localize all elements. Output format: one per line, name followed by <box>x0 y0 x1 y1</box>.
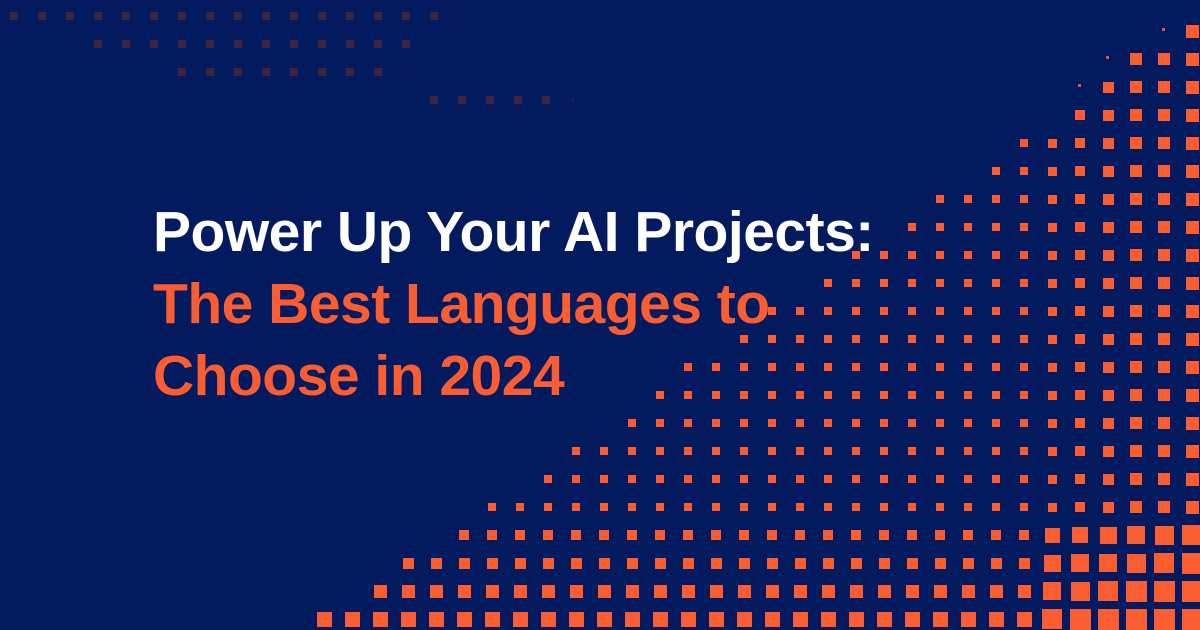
halftone-dot <box>1130 53 1142 65</box>
halftone-dot <box>262 12 270 20</box>
halftone-dot <box>1158 81 1170 93</box>
halftone-dot <box>1071 582 1090 601</box>
halftone-dot <box>1042 609 1062 629</box>
halftone-dot <box>656 447 664 455</box>
halftone-dot <box>1126 609 1147 630</box>
halftone-dot <box>992 279 1000 287</box>
halftone-dot <box>1186 501 1199 514</box>
halftone-dot <box>908 475 916 483</box>
halftone-dot <box>459 530 469 540</box>
halftone-dot <box>544 475 552 483</box>
halftone-dot <box>599 530 609 540</box>
halftone-dot <box>852 447 860 455</box>
halftone-dot <box>992 419 1000 427</box>
halftone-dot <box>1075 362 1085 372</box>
halftone-dot <box>684 475 692 483</box>
halftone-dot <box>880 503 888 511</box>
halftone-dot <box>206 40 214 48</box>
halftone-dot <box>824 503 832 511</box>
halftone-dot <box>992 195 1000 203</box>
halftone-dot <box>374 68 382 76</box>
halftone-dot <box>936 195 944 203</box>
halftone-dot <box>908 307 916 315</box>
halftone-dot <box>851 558 862 569</box>
halftone-dot <box>628 447 636 455</box>
halftone-dot <box>880 475 888 483</box>
halftone-dot <box>1154 581 1175 602</box>
halftone-dot <box>1103 306 1114 317</box>
halftone-dot <box>1075 250 1085 260</box>
halftone-dot <box>1103 166 1114 177</box>
halftone-dot <box>1048 279 1057 288</box>
halftone-dot <box>936 279 944 287</box>
halftone-dot <box>290 40 298 48</box>
halftone-dot <box>766 585 779 598</box>
halftone-dot <box>1044 555 1061 572</box>
halftone-dot <box>656 475 664 483</box>
halftone-dot <box>597 612 612 627</box>
halftone-dot <box>1130 137 1142 149</box>
halftone-dot <box>1130 165 1142 177</box>
halftone-dot <box>964 223 972 231</box>
halftone-dot <box>880 419 888 427</box>
halftone-dot <box>1071 554 1089 572</box>
halftone-dot <box>628 503 636 511</box>
halftone-dot <box>907 530 917 540</box>
halftone-dot <box>935 558 946 569</box>
halftone-dot <box>1048 363 1057 372</box>
halftone-dot <box>964 475 972 483</box>
halftone-dot <box>1019 558 1030 569</box>
halftone-dot <box>1103 390 1114 401</box>
halftone-dot <box>1158 165 1170 177</box>
halftone-dot <box>1048 195 1057 204</box>
halftone-dot <box>1126 581 1147 602</box>
halftone-dot <box>908 363 916 371</box>
halftone-dot <box>374 585 387 598</box>
halftone-dot <box>1075 222 1085 232</box>
halftone-dot <box>542 96 550 104</box>
halftone-dot <box>1098 581 1118 601</box>
halftone-dot <box>1158 333 1170 345</box>
halftone-dot <box>908 503 916 511</box>
halftone-dot <box>1127 526 1145 544</box>
halftone-dot <box>150 12 158 20</box>
halftone-dot <box>1048 503 1057 512</box>
halftone-dot <box>712 475 720 483</box>
halftone-dot <box>402 585 415 598</box>
halftone-dot <box>852 503 860 511</box>
halftone-dot <box>487 558 498 569</box>
halftone-dot <box>1098 609 1119 630</box>
halftone-dot <box>570 585 583 598</box>
halftone-dot <box>1075 194 1085 204</box>
halftone-dot <box>1158 277 1170 289</box>
halftone-dot <box>878 585 891 598</box>
halftone-dot <box>1075 138 1085 148</box>
halftone-dot <box>936 447 944 455</box>
halftone-dot <box>600 503 608 511</box>
halftone-dot <box>1106 56 1109 59</box>
halftone-dot <box>1130 221 1142 233</box>
halftone-dot <box>429 612 444 627</box>
halftone-dot <box>571 530 581 540</box>
halftone-dot <box>880 363 888 371</box>
halftone-dot <box>936 475 944 483</box>
halftone-dot <box>908 279 916 287</box>
halftone-dot <box>572 503 580 511</box>
halftone-dot <box>178 12 186 20</box>
halftone-dot <box>1130 109 1142 121</box>
halftone-dot <box>1103 418 1114 429</box>
halftone-dot <box>737 612 752 627</box>
halftone-dot <box>1075 306 1085 316</box>
halftone-dot <box>374 12 382 20</box>
halftone-dot <box>964 391 972 399</box>
halftone-dot <box>796 419 804 427</box>
halftone-dot <box>1020 139 1028 147</box>
halftone-dot <box>1186 389 1199 402</box>
halftone-dot <box>122 12 130 20</box>
halftone-dot <box>514 96 522 104</box>
halftone-dot <box>712 447 720 455</box>
halftone-dot <box>907 558 918 569</box>
halftone-dot <box>486 96 494 104</box>
halftone-dot <box>1020 195 1028 203</box>
halftone-dot <box>94 40 102 48</box>
halftone-dot <box>515 530 525 540</box>
halftone-dot <box>1020 167 1028 175</box>
halftone-dot <box>10 12 18 20</box>
halftone-dot <box>572 475 580 483</box>
halftone-dot <box>935 530 945 540</box>
halftone-dot <box>600 447 608 455</box>
halftone-dot <box>346 12 354 20</box>
halftone-dot <box>1103 502 1114 513</box>
halftone-dot <box>1103 138 1114 149</box>
halftone-dot <box>767 530 777 540</box>
halftone-dot <box>1130 277 1142 289</box>
halftone-dot <box>1075 502 1085 512</box>
halftone-dot <box>460 15 462 17</box>
halftone-dot <box>544 503 552 511</box>
halftone-dot <box>906 585 919 598</box>
halftone-dot <box>1130 445 1142 457</box>
halftone-dot <box>1186 81 1199 94</box>
halftone-dot <box>654 585 667 598</box>
halftone-dot <box>1048 419 1057 428</box>
halftone-dot <box>739 530 749 540</box>
halftone-dot <box>513 612 528 627</box>
halftone-dot <box>1103 334 1114 345</box>
halftone-dot <box>1186 417 1199 430</box>
halftone-dot <box>796 475 804 483</box>
halftone-dot <box>768 447 776 455</box>
halftone-dot <box>1075 278 1085 288</box>
halftone-dot <box>710 585 723 598</box>
halftone-dot <box>1186 25 1199 38</box>
social-banner-card: Power Up Your AI Projects: The Best Lang… <box>0 0 1200 630</box>
halftone-dot <box>1158 389 1170 401</box>
halftone-dot <box>1130 81 1142 93</box>
halftone-dot <box>1070 609 1091 630</box>
halftone-dot <box>880 279 888 287</box>
halftone-dot <box>318 68 326 76</box>
halftone-dot <box>684 447 692 455</box>
halftone-dot <box>122 40 130 48</box>
halftone-dot <box>1100 527 1117 544</box>
halftone-dot <box>572 447 580 455</box>
halftone-dot <box>1048 335 1057 344</box>
halftone-dot <box>712 503 720 511</box>
halftone-dot <box>1186 305 1199 318</box>
halftone-dot <box>992 503 1000 511</box>
halftone-dot <box>964 279 972 287</box>
halftone-dot <box>401 612 416 627</box>
halftone-dot <box>626 585 639 598</box>
halftone-dot <box>768 503 776 511</box>
halftone-dot <box>1020 223 1028 231</box>
halftone-dot <box>487 530 497 540</box>
halftone-dot <box>933 612 948 627</box>
halftone-dot <box>655 530 665 540</box>
halftone-dot <box>403 558 414 569</box>
halftone-dot <box>206 68 214 76</box>
halftone-dot <box>628 419 636 427</box>
halftone-dot <box>1186 277 1199 290</box>
halftone-dot <box>318 12 326 20</box>
halftone-dot <box>1020 279 1028 287</box>
halftone-dot <box>908 391 916 399</box>
halftone-dot <box>934 585 947 598</box>
halftone-dot <box>1048 139 1057 148</box>
halftone-dot <box>905 612 920 627</box>
halftone-dot <box>1130 389 1142 401</box>
halftone-dot <box>1075 110 1085 120</box>
halftone-dot <box>684 419 692 427</box>
halftone-dot <box>796 447 804 455</box>
halftone-dot <box>768 419 776 427</box>
halftone-dot <box>430 12 438 20</box>
halftone-dot <box>458 96 466 104</box>
halftone-dot <box>908 419 916 427</box>
halftone-dot <box>262 68 270 76</box>
halftone-dot <box>599 558 610 569</box>
headline-line-2: The Best Languages to <box>153 268 874 340</box>
halftone-dot <box>1048 475 1057 484</box>
halftone-dot <box>1154 553 1174 573</box>
headline-line-3: Choose in 2024 <box>153 340 874 412</box>
halftone-dot <box>1043 582 1061 600</box>
halftone-dot <box>1158 221 1170 233</box>
halftone-dot <box>627 530 637 540</box>
halftone-dot <box>1186 333 1199 346</box>
halftone-dot <box>1020 503 1028 511</box>
halftone-dot <box>1186 109 1199 122</box>
halftone-dot <box>740 475 748 483</box>
halftone-dot <box>656 419 664 427</box>
halftone-dot <box>1130 361 1142 373</box>
halftone-dot <box>936 391 944 399</box>
halftone-dot <box>822 585 835 598</box>
halftone-dot <box>1186 249 1199 262</box>
halftone-dot <box>431 558 442 569</box>
halftone-dot <box>572 99 574 101</box>
halftone-dot <box>990 585 1003 598</box>
halftone-dot <box>515 558 526 569</box>
headline: Power Up Your AI Projects: The Best Lang… <box>153 196 874 412</box>
halftone-dot <box>795 530 805 540</box>
halftone-dot <box>964 419 972 427</box>
halftone-dot <box>1158 53 1170 65</box>
halftone-dot <box>936 363 944 371</box>
halftone-dot <box>992 251 1000 259</box>
halftone-dot <box>964 363 972 371</box>
halftone-dot <box>682 585 695 598</box>
halftone-dot <box>486 585 499 598</box>
halftone-dot <box>1162 28 1165 31</box>
halftone-dot <box>516 503 524 511</box>
halftone-dot <box>1103 250 1114 261</box>
halftone-dot <box>1186 137 1199 150</box>
halftone-dot <box>1186 221 1199 234</box>
halftone-dot <box>234 68 242 76</box>
halftone-dot <box>318 40 326 48</box>
halftone-dot <box>1158 445 1170 457</box>
halftone-dot <box>964 503 972 511</box>
halftone-dot <box>880 391 888 399</box>
halftone-dot <box>571 558 582 569</box>
halftone-dot <box>1103 194 1114 205</box>
halftone-dot <box>992 475 1000 483</box>
halftone-dot <box>290 68 298 76</box>
halftone-dot <box>961 612 976 627</box>
halftone-dot <box>796 503 804 511</box>
halftone-dot <box>656 503 664 511</box>
halftone-dot <box>767 558 778 569</box>
halftone-dot <box>711 558 722 569</box>
halftone-dot <box>877 612 892 627</box>
halftone-dot <box>879 558 890 569</box>
halftone-dot <box>992 447 1000 455</box>
halftone-dot <box>290 12 298 20</box>
halftone-dot <box>66 12 74 20</box>
halftone-dot <box>1048 307 1057 316</box>
halftone-dot <box>1186 445 1199 458</box>
halftone-dot <box>936 335 944 343</box>
halftone-dot <box>681 612 696 627</box>
halftone-dot <box>1186 165 1199 178</box>
halftone-dot <box>851 530 861 540</box>
halftone-dot <box>1103 110 1114 121</box>
halftone-dot <box>794 585 807 598</box>
halftone-dot <box>1019 530 1029 540</box>
halftone-dot <box>346 68 354 76</box>
halftone-dot <box>850 585 863 598</box>
halftone-dot <box>600 475 608 483</box>
halftone-dot <box>824 419 832 427</box>
halftone-dot <box>1048 251 1057 260</box>
halftone-dot <box>234 40 242 48</box>
halftone-dot <box>488 503 496 511</box>
halftone-dot <box>1130 193 1142 205</box>
halftone-dot <box>1103 474 1114 485</box>
halftone-dot <box>38 12 46 20</box>
halftone-dot <box>373 612 388 627</box>
halftone-dot <box>992 335 1000 343</box>
halftone-dot <box>964 251 972 259</box>
halftone-dot <box>964 335 972 343</box>
halftone-dot <box>542 585 555 598</box>
halftone-dot <box>824 475 832 483</box>
halftone-dot <box>963 530 973 540</box>
halftone-dot <box>569 612 584 627</box>
halftone-dot <box>1020 335 1028 343</box>
halftone-dot <box>852 475 860 483</box>
halftone-dot <box>740 419 748 427</box>
halftone-dot <box>374 40 382 48</box>
halftone-dot <box>824 447 832 455</box>
halftone-dot <box>795 558 806 569</box>
halftone-dot <box>404 71 406 73</box>
halftone-dot <box>964 195 972 203</box>
halftone-dot <box>1078 84 1081 87</box>
halftone-dot <box>1075 418 1085 428</box>
halftone-dot <box>234 12 242 20</box>
halftone-dot <box>1048 167 1057 176</box>
halftone-dot <box>345 612 360 627</box>
halftone-dot <box>94 12 102 20</box>
halftone-dot <box>1158 249 1170 261</box>
halftone-dot <box>768 475 776 483</box>
halftone-dot <box>1186 473 1199 486</box>
halftone-dot <box>1155 526 1174 545</box>
halftone-dot <box>1048 391 1057 400</box>
halftone-dot <box>936 251 944 259</box>
halftone-dot <box>206 12 214 20</box>
halftone-dot <box>1154 609 1175 630</box>
halftone-dot <box>150 40 158 48</box>
halftone-dot <box>908 223 916 231</box>
halftone-dot <box>1158 361 1170 373</box>
halftone-dot <box>936 503 944 511</box>
halftone-dot <box>908 335 916 343</box>
halftone-dot <box>1182 581 1200 602</box>
halftone-dot <box>765 612 780 627</box>
halftone-dot <box>1075 390 1085 400</box>
halftone-dot <box>964 307 972 315</box>
halftone-dot <box>1020 447 1028 455</box>
halftone-dot <box>1158 501 1170 513</box>
halftone-dot <box>459 558 470 569</box>
halftone-dot <box>991 530 1001 540</box>
halftone-dot <box>936 223 944 231</box>
halftone-dot <box>430 585 443 598</box>
halftone-dot <box>402 12 410 20</box>
halftone-dot <box>740 503 748 511</box>
halftone-dot <box>1158 473 1170 485</box>
halftone-dot <box>430 96 438 104</box>
halftone-dot <box>793 612 808 627</box>
halftone-dot <box>879 530 889 540</box>
halftone-dot <box>1182 553 1200 574</box>
halftone-dot <box>712 419 720 427</box>
halftone-dot <box>1020 475 1028 483</box>
halftone-dot <box>1158 109 1170 121</box>
halftone-dot <box>992 363 1000 371</box>
halftone-dot <box>543 530 553 540</box>
halftone-dot <box>1020 307 1028 315</box>
